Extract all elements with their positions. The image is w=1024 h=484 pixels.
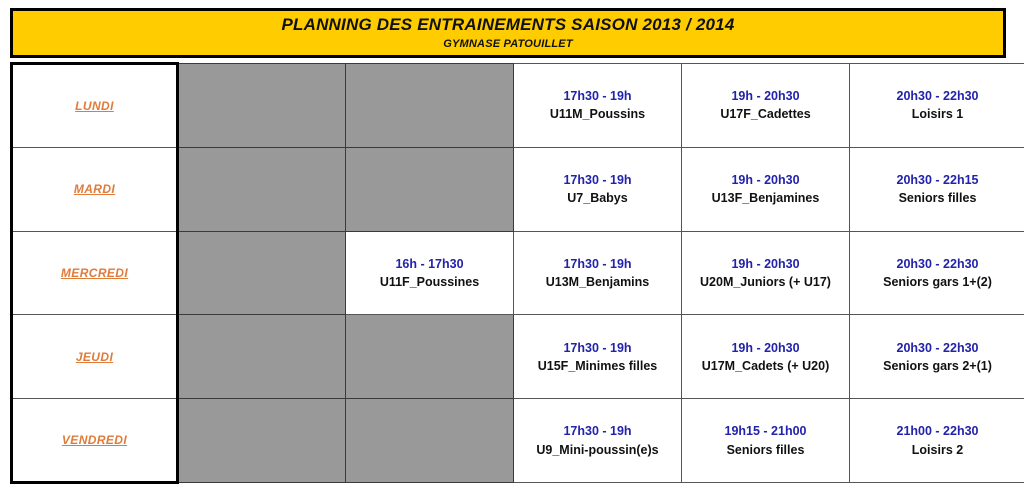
session-cell: 17h30 - 19hU11M_Poussins [514,64,682,148]
session-group: U11F_Poussines [350,273,509,291]
day-cell-mercredi: MERCREDI [12,231,178,315]
session-cell: 19h - 20h30U20M_Juniors (+ U17) [682,231,850,315]
title-banner: PLANNING DES ENTRAINEMENTS SAISON 2013 /… [10,8,1006,58]
training-schedule-page: PLANNING DES ENTRAINEMENTS SAISON 2013 /… [0,0,1024,484]
empty-slot-cell [346,399,514,483]
table-row: JEUDI17h30 - 19hU15F_Minimes filles19h -… [12,315,1024,399]
table-row: VENDREDI17h30 - 19hU9_Mini-poussin(e)s19… [12,399,1024,483]
empty-slot-cell [346,64,514,148]
session-group: U20M_Juniors (+ U17) [686,273,845,291]
table-row: MARDI17h30 - 19hU7_Babys19h - 20h30U13F_… [12,147,1024,231]
session-group: U15F_Minimes filles [518,357,677,375]
session-cell: 20h30 - 22h30Loisirs 1 [850,64,1024,148]
schedule-table-body: LUNDI17h30 - 19hU11M_Poussins19h - 20h30… [12,64,1024,483]
session-time: 19h - 20h30 [686,339,845,357]
session-cell: 19h - 20h30U13F_Benjamines [682,147,850,231]
session-cell: 17h30 - 19hU7_Babys [514,147,682,231]
day-label: MARDI [74,182,115,196]
day-label: JEUDI [76,350,113,364]
session-group: U17F_Cadettes [686,105,845,123]
session-cell: 20h30 - 22h30Seniors gars 1+(2) [850,231,1024,315]
schedule-table: LUNDI17h30 - 19hU11M_Poussins19h - 20h30… [10,62,1024,484]
empty-slot-cell [178,231,346,315]
table-row: LUNDI17h30 - 19hU11M_Poussins19h - 20h30… [12,64,1024,148]
session-group: Loisirs 2 [854,441,1021,459]
session-cell: 21h00 - 22h30Loisirs 2 [850,399,1024,483]
session-cell: 17h30 - 19hU15F_Minimes filles [514,315,682,399]
session-group: Seniors gars 2+(1) [854,357,1021,375]
day-cell-lundi: LUNDI [12,64,178,148]
session-cell: 20h30 - 22h15Seniors filles [850,147,1024,231]
page-title: PLANNING DES ENTRAINEMENTS SAISON 2013 /… [281,16,734,35]
empty-slot-cell [178,315,346,399]
session-cell: 17h30 - 19hU9_Mini-poussin(e)s [514,399,682,483]
day-cell-vendredi: VENDREDI [12,399,178,483]
empty-slot-cell [178,64,346,148]
session-time: 20h30 - 22h30 [854,255,1021,273]
empty-slot-cell [346,315,514,399]
session-time: 19h - 20h30 [686,171,845,189]
page-subtitle: GYMNASE PATOUILLET [443,38,573,50]
session-time: 20h30 - 22h15 [854,171,1021,189]
empty-slot-cell [178,399,346,483]
day-label: MERCREDI [61,266,128,280]
session-time: 20h30 - 22h30 [854,87,1021,105]
session-time: 17h30 - 19h [518,87,677,105]
day-cell-mardi: MARDI [12,147,178,231]
session-time: 16h - 17h30 [350,255,509,273]
session-time: 21h00 - 22h30 [854,422,1021,440]
session-cell: 20h30 - 22h30Seniors gars 2+(1) [850,315,1024,399]
session-group: Seniors filles [686,441,845,459]
session-time: 19h15 - 21h00 [686,422,845,440]
session-group: Seniors gars 1+(2) [854,273,1021,291]
empty-slot-cell [346,147,514,231]
session-time: 17h30 - 19h [518,255,677,273]
session-time: 19h - 20h30 [686,255,845,273]
session-time: 20h30 - 22h30 [854,339,1021,357]
session-group: U17M_Cadets (+ U20) [686,357,845,375]
session-time: 17h30 - 19h [518,339,677,357]
day-cell-jeudi: JEUDI [12,315,178,399]
session-group: U7_Babys [518,189,677,207]
session-cell: 19h - 20h30U17F_Cadettes [682,64,850,148]
session-cell: 19h - 20h30U17M_Cadets (+ U20) [682,315,850,399]
session-cell: 16h - 17h30U11F_Poussines [346,231,514,315]
session-group: U13M_Benjamins [518,273,677,291]
session-cell: 17h30 - 19hU13M_Benjamins [514,231,682,315]
session-cell: 19h15 - 21h00Seniors filles [682,399,850,483]
session-time: 17h30 - 19h [518,171,677,189]
table-row: MERCREDI16h - 17h30U11F_Poussines17h30 -… [12,231,1024,315]
day-label: LUNDI [75,99,114,113]
day-label: VENDREDI [62,433,127,447]
session-group: Seniors filles [854,189,1021,207]
session-group: U13F_Benjamines [686,189,845,207]
session-time: 19h - 20h30 [686,87,845,105]
session-time: 17h30 - 19h [518,422,677,440]
session-group: U9_Mini-poussin(e)s [518,441,677,459]
session-group: U11M_Poussins [518,105,677,123]
empty-slot-cell [178,147,346,231]
session-group: Loisirs 1 [854,105,1021,123]
